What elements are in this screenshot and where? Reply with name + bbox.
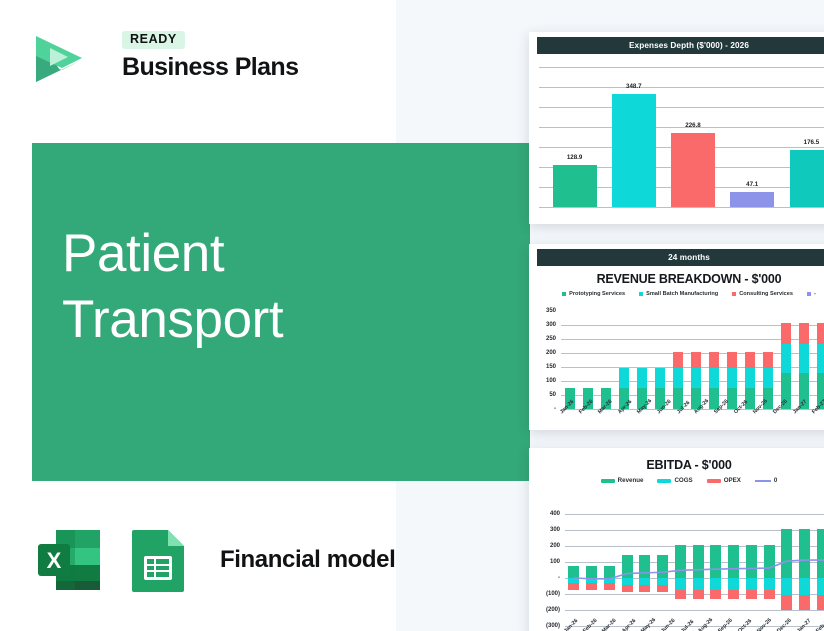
revenue-bar-segment (763, 368, 773, 388)
revenue-bar-segment (781, 323, 791, 344)
expenses-chart-title: Expenses Depth ($'000) - 2026 (537, 37, 824, 54)
revenue-bar-column (759, 311, 777, 409)
chart-card-revenue: 24 months REVENUE BREAKDOWN - $'000 Prot… (529, 244, 824, 430)
y-axis-tick: 300 (546, 322, 556, 328)
expenses-bar: 226.8 (671, 133, 715, 207)
legend-item: Prototyping Services (562, 291, 625, 297)
page-title-line-1: Patient (62, 221, 502, 287)
revenue-bar-segment (637, 368, 647, 388)
revenue-bar-column (633, 311, 651, 409)
play-triangle-logo-icon (30, 28, 96, 90)
revenue-bar-segment (655, 368, 665, 388)
expenses-bars: 128.9348.7226.847.1176.5 (545, 67, 824, 207)
expenses-bar-column: 226.8 (663, 67, 722, 207)
expenses-bar-value-label: 348.7 (626, 83, 641, 90)
revenue-y-axis: 35030025020015010050- (533, 311, 559, 409)
expenses-bar-column: 128.9 (545, 67, 604, 207)
y-axis-tick: 400 (550, 511, 560, 517)
y-axis-tick: 250 (546, 336, 556, 342)
ebitda-chart-title: EBITDA - $'000 (529, 458, 824, 472)
chart-card-expenses: Expenses Depth ($'000) - 2026 128.9348.7… (529, 32, 824, 224)
legend-swatch (807, 292, 811, 296)
expenses-bar-value-label: 176.5 (804, 139, 819, 146)
ebitda-plot-area: 400300200100-(100)(200)(300) (533, 514, 824, 626)
expenses-bar: 176.5 (790, 150, 824, 207)
y-axis-tick: 200 (550, 543, 560, 549)
legend-label: COGS (674, 477, 692, 484)
legend-swatch (755, 480, 771, 482)
legend-swatch (639, 292, 643, 296)
revenue-bar-segment (817, 344, 824, 373)
y-axis-tick: 150 (546, 364, 556, 370)
revenue-bar-column (561, 311, 579, 409)
revenue-bar-segment (691, 352, 701, 369)
y-axis-tick: - (558, 575, 560, 581)
expenses-bar-column: 176.5 (782, 67, 824, 207)
expenses-bar-column: 348.7 (604, 67, 663, 207)
revenue-period-band: 24 months (537, 249, 824, 266)
y-axis-tick: 100 (546, 378, 556, 384)
legend-item: Revenue (601, 477, 644, 484)
y-axis-tick: 100 (550, 559, 560, 565)
legend-label: Small Batch Manufacturing (646, 291, 718, 297)
expenses-bar-value-label: 128.9 (567, 154, 582, 161)
ready-badge: READY (122, 31, 185, 49)
legend-swatch (657, 479, 671, 483)
y-axis-tick: - (554, 406, 556, 412)
expenses-bar-value-label: 226.8 (685, 122, 700, 129)
expenses-bar-column: 47.1 (723, 67, 782, 207)
footer-label: Financial model (220, 546, 395, 574)
legend-item: Small Batch Manufacturing (639, 291, 718, 297)
legend-label: OPEX (724, 477, 741, 484)
revenue-bars (561, 311, 824, 409)
revenue-bar-segment (799, 323, 809, 344)
legend-label: Prototyping Services (569, 291, 625, 297)
legend-item: - (807, 291, 816, 297)
legend-item: COGS (657, 477, 692, 484)
legend-item: Consulting Services (732, 291, 793, 297)
y-axis-tick: 50 (549, 392, 556, 398)
brand-logo-text: READY Business Plans (122, 30, 352, 81)
revenue-bar-segment (619, 368, 629, 388)
legend-swatch (707, 479, 721, 483)
revenue-plot-area: 35030025020015010050- (533, 311, 824, 409)
revenue-bar-column (669, 311, 687, 409)
expenses-bar-value-label: 47.1 (746, 181, 758, 188)
microsoft-excel-icon: X (30, 522, 106, 598)
revenue-bar-column (777, 311, 795, 409)
gridline (539, 207, 824, 208)
revenue-bar-column (579, 311, 597, 409)
page-title-line-2: Transport (62, 287, 502, 353)
revenue-bar-column (723, 311, 741, 409)
revenue-bar-segment (781, 344, 791, 373)
expenses-bar: 47.1 (730, 192, 774, 207)
revenue-bar-segment (673, 368, 683, 388)
revenue-chart-title: REVENUE BREAKDOWN - $'000 (529, 272, 824, 286)
expenses-bar: 348.7 (612, 94, 656, 208)
revenue-bar-column (597, 311, 615, 409)
revenue-bar-column (615, 311, 633, 409)
y-axis-tick: (200) (546, 607, 560, 613)
revenue-bar-segment (727, 368, 737, 388)
legend-label: 0 (774, 477, 777, 484)
revenue-bar-column (795, 311, 813, 409)
expenses-bar: 128.9 (553, 165, 597, 207)
revenue-bar-column (705, 311, 723, 409)
revenue-bar-segment (673, 352, 683, 369)
brand-name: Business Plans (122, 53, 352, 81)
legend-label: Consulting Services (739, 291, 793, 297)
revenue-bar-segment (745, 368, 755, 388)
ebitda-legend: RevenueCOGSOPEX0 (529, 477, 824, 484)
page-title: Patient Transport (62, 221, 502, 352)
brand-logo: READY Business Plans (30, 28, 350, 100)
chart-card-ebitda: EBITDA - $'000 RevenueCOGSOPEX0 40030020… (529, 448, 824, 631)
legend-item: OPEX (707, 477, 741, 484)
revenue-bar-segment (709, 368, 719, 388)
legend-swatch (601, 479, 615, 483)
y-axis-tick: (100) (546, 591, 560, 597)
revenue-bar-column (741, 311, 759, 409)
revenue-bar-segment (727, 352, 737, 369)
legend-swatch (732, 292, 736, 296)
hero-block: Patient Transport (32, 143, 530, 481)
revenue-bar-column (687, 311, 705, 409)
svg-text:X: X (47, 548, 62, 573)
legend-label: Revenue (618, 477, 644, 484)
revenue-legend: Prototyping ServicesSmall Batch Manufact… (529, 291, 824, 297)
revenue-bar-column (813, 311, 824, 409)
ebitda-y-axis: 400300200100-(100)(200)(300) (533, 514, 563, 626)
revenue-bar-segment (727, 388, 737, 409)
expenses-plot-area: 128.9348.7226.847.1176.5 (539, 67, 824, 207)
revenue-bar-segment (709, 352, 719, 369)
footer-bar: X Financial model (30, 519, 395, 601)
revenue-bar-column (651, 311, 669, 409)
revenue-bar-segment (691, 368, 701, 388)
y-axis-tick: 200 (546, 350, 556, 356)
revenue-bar-segment (763, 352, 773, 369)
y-axis-tick: 300 (550, 527, 560, 533)
legend-swatch (562, 292, 566, 296)
y-axis-tick: (300) (546, 623, 560, 629)
revenue-bar-segment (817, 323, 824, 344)
legend-item: 0 (755, 477, 777, 484)
slide-canvas: READY Business Plans Patient Transport X (0, 0, 824, 631)
legend-label: - (814, 291, 816, 297)
google-sheets-icon (120, 522, 196, 598)
revenue-bar-segment (745, 352, 755, 369)
y-axis-tick: 350 (546, 308, 556, 314)
ebitda-zero-line-series (565, 514, 824, 631)
revenue-bar-segment (799, 344, 809, 373)
revenue-x-axis-labels: Jan-26Feb-26Mar-26Apr-26May-26Jun-26Jul-… (557, 411, 824, 417)
